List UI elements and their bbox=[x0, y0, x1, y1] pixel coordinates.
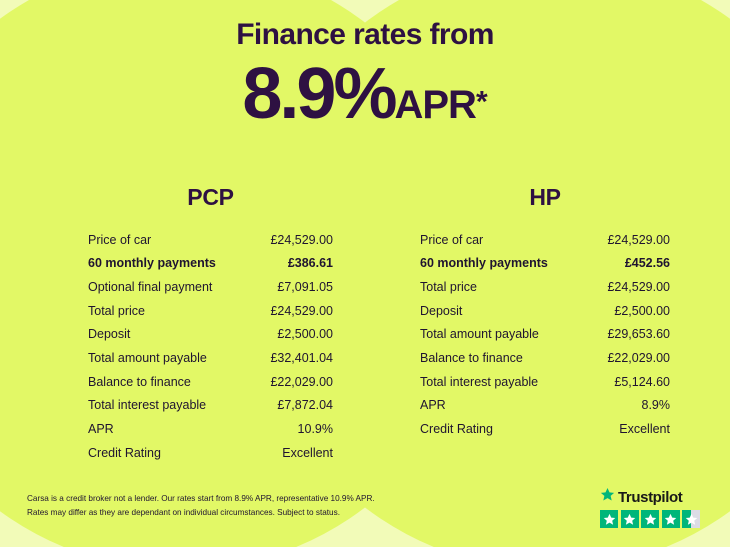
trustpilot-star-1 bbox=[600, 510, 618, 528]
row-label: Credit Rating bbox=[88, 447, 161, 460]
row-label: Deposit bbox=[420, 305, 462, 318]
row-label: Total amount payable bbox=[420, 328, 539, 341]
plan-column-pcp: PCP Price of car £24,529.00 60 monthly p… bbox=[0, 184, 365, 465]
row-value: £2,500.00 bbox=[614, 305, 670, 318]
row-label: Total interest payable bbox=[420, 376, 538, 389]
finance-comparison-tables: PCP Price of car £24,529.00 60 monthly p… bbox=[0, 184, 730, 465]
row-label: APR bbox=[88, 423, 114, 436]
row-value: £386.61 bbox=[288, 257, 333, 270]
row-label: 60 monthly payments bbox=[88, 257, 216, 270]
row-label: Optional final payment bbox=[88, 281, 212, 294]
poster-footer: Carsa is a credit broker not a lender. O… bbox=[0, 485, 730, 547]
row-value: £24,529.00 bbox=[607, 234, 670, 247]
trustpilot-stars bbox=[600, 510, 708, 528]
star-icon bbox=[641, 510, 659, 528]
table-row: 60 monthly payments £452.56 bbox=[420, 252, 670, 276]
headline-rate: 8.9%APR* bbox=[0, 58, 730, 130]
row-value: Excellent bbox=[282, 447, 333, 460]
table-row: Total amount payable £32,401.04 bbox=[88, 346, 333, 370]
plan-title-pcp: PCP bbox=[88, 184, 333, 211]
disclaimer-line-1: Carsa is a credit broker not a lender. O… bbox=[27, 492, 375, 506]
table-row: Deposit £2,500.00 bbox=[420, 299, 670, 323]
row-label: Total price bbox=[88, 305, 145, 318]
row-label: 60 monthly payments bbox=[420, 257, 548, 270]
apr-rate-value: 8.9% bbox=[242, 54, 394, 134]
row-value: £24,529.00 bbox=[607, 281, 670, 294]
row-value: Excellent bbox=[619, 423, 670, 436]
trustpilot-star-5-half bbox=[682, 510, 700, 528]
table-row: Balance to finance £22,029.00 bbox=[88, 370, 333, 394]
trustpilot-name: Trustpilot bbox=[618, 490, 682, 505]
disclaimer-line-2: Rates may differ as they are dependant o… bbox=[27, 506, 375, 520]
row-label: Credit Rating bbox=[420, 423, 493, 436]
row-value: £32,401.04 bbox=[270, 352, 333, 365]
row-value: £22,029.00 bbox=[607, 352, 670, 365]
row-label: Total amount payable bbox=[88, 352, 207, 365]
row-label: Price of car bbox=[88, 234, 151, 247]
trustpilot-rating[interactable]: Trustpilot bbox=[600, 487, 708, 528]
table-row: Total price £24,529.00 bbox=[88, 299, 333, 323]
apr-asterisk: * bbox=[476, 86, 488, 119]
plan-rows-pcp: Price of car £24,529.00 60 monthly payme… bbox=[88, 228, 333, 465]
row-value: £7,091.05 bbox=[277, 281, 333, 294]
row-value: 10.9% bbox=[298, 423, 333, 436]
plan-column-hp: HP Price of car £24,529.00 60 monthly pa… bbox=[365, 184, 730, 465]
table-row: Price of car £24,529.00 bbox=[420, 228, 670, 252]
trustpilot-wordmark: Trustpilot bbox=[600, 487, 708, 507]
row-value: £5,124.60 bbox=[614, 376, 670, 389]
page-title: Finance rates from bbox=[0, 20, 730, 50]
trustpilot-star-2 bbox=[621, 510, 639, 528]
row-label: APR bbox=[420, 399, 446, 412]
disclaimer-text: Carsa is a credit broker not a lender. O… bbox=[27, 492, 375, 519]
row-value: £7,872.04 bbox=[277, 399, 333, 412]
table-row: Total interest payable £5,124.60 bbox=[420, 370, 670, 394]
table-row: Total amount payable £29,653.60 bbox=[420, 323, 670, 347]
table-row: Deposit £2,500.00 bbox=[88, 323, 333, 347]
table-row: Price of car £24,529.00 bbox=[88, 228, 333, 252]
table-row: Credit Rating Excellent bbox=[420, 418, 670, 442]
star-icon bbox=[621, 510, 639, 528]
plan-rows-hp: Price of car £24,529.00 60 monthly payme… bbox=[420, 228, 670, 441]
row-value: £24,529.00 bbox=[270, 305, 333, 318]
row-value: £2,500.00 bbox=[277, 328, 333, 341]
table-row: Optional final payment £7,091.05 bbox=[88, 275, 333, 299]
row-value: 8.9% bbox=[642, 399, 671, 412]
table-row: 60 monthly payments £386.61 bbox=[88, 252, 333, 276]
row-label: Balance to finance bbox=[88, 376, 191, 389]
poster-content: Finance rates from 8.9%APR* PCP Price of… bbox=[0, 0, 730, 547]
row-value: £29,653.60 bbox=[607, 328, 670, 341]
table-row: Total interest payable £7,872.04 bbox=[88, 394, 333, 418]
headline-block: Finance rates from 8.9%APR* bbox=[0, 20, 730, 130]
row-value: £22,029.00 bbox=[270, 376, 333, 389]
table-row: APR 8.9% bbox=[420, 394, 670, 418]
table-row: Credit Rating Excellent bbox=[88, 441, 333, 465]
row-label: Total price bbox=[420, 281, 477, 294]
trustpilot-star-3 bbox=[641, 510, 659, 528]
plan-title-hp: HP bbox=[420, 184, 670, 211]
row-label: Balance to finance bbox=[420, 352, 523, 365]
row-value: £24,529.00 bbox=[270, 234, 333, 247]
row-label: Price of car bbox=[420, 234, 483, 247]
apr-rate-suffix: APR bbox=[394, 83, 475, 127]
star-icon bbox=[662, 510, 680, 528]
row-label: Deposit bbox=[88, 328, 130, 341]
star-icon bbox=[682, 510, 700, 528]
row-label: Total interest payable bbox=[88, 399, 206, 412]
trustpilot-star-icon bbox=[600, 487, 615, 507]
table-row: APR 10.9% bbox=[88, 418, 333, 442]
row-value: £452.56 bbox=[625, 257, 670, 270]
table-row: Balance to finance £22,029.00 bbox=[420, 346, 670, 370]
star-icon bbox=[600, 510, 618, 528]
table-row: Total price £24,529.00 bbox=[420, 275, 670, 299]
trustpilot-star-4 bbox=[662, 510, 680, 528]
finance-rates-poster: Finance rates from 8.9%APR* PCP Price of… bbox=[0, 0, 730, 547]
